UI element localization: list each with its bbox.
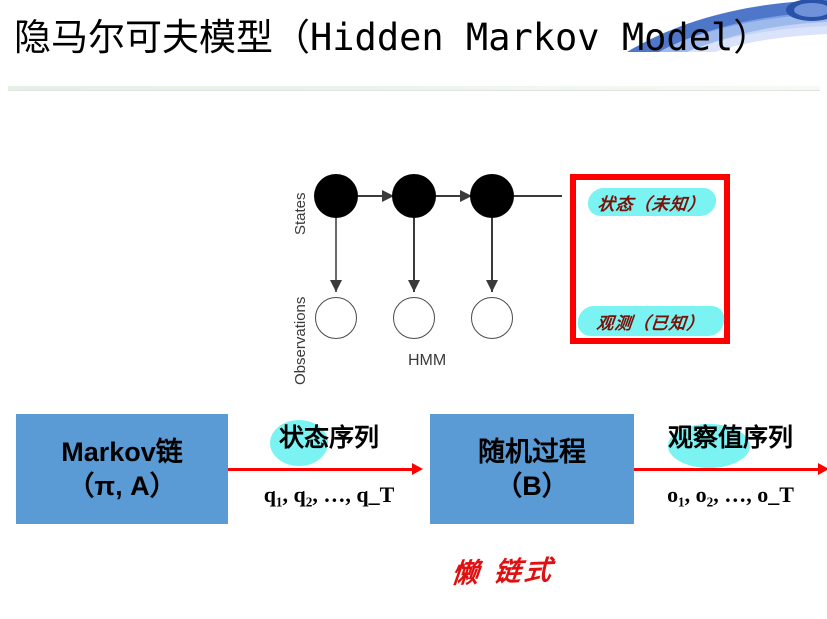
state-node: [470, 174, 514, 218]
arrow-top-label-state-sequence: 状态序列: [228, 418, 430, 454]
flow-box-process-line1: 随机过程: [478, 435, 586, 469]
arrow-top-label-observation-sequence: 观察值序列: [634, 418, 827, 454]
state-node: [314, 174, 358, 218]
handwritten-note-observations: 观测（已知）: [576, 306, 725, 336]
title-divider: [8, 86, 820, 91]
observation-node: [393, 297, 435, 339]
handwritten-note-states: 状态（未知）: [587, 188, 718, 216]
flow-box-process-line2: （B）: [495, 469, 569, 503]
page-title: 隐马尔可夫模型（Hidden Markov Model）: [14, 14, 770, 62]
arrow-head: [412, 463, 423, 475]
observation-node: [315, 297, 357, 339]
flow-box-stochastic-process: 随机过程 （B）: [430, 414, 634, 524]
flow-box-markov-line1: Markov链: [61, 435, 183, 469]
arrow-line: [634, 468, 820, 471]
arrow-head: [818, 463, 827, 475]
hmm-diagram: States Observations HMM: [272, 160, 562, 385]
observation-node: [471, 297, 513, 339]
flow-box-markov-line2: （π, A）: [67, 469, 176, 503]
hmm-caption: HMM: [408, 352, 446, 370]
flow-arrow-state-sequence: 状态序列 q₁, q₂, …, q_T: [228, 414, 430, 524]
handwritten-note-bottom: 懒 链式: [450, 548, 557, 591]
flow-box-markov-chain: Markov链 （π, A）: [16, 414, 228, 524]
annotation-box: 状态（未知） 观测（已知）: [570, 174, 730, 344]
flow-arrow-observation-sequence: 观察值序列 o₁, o₂, …, o_T: [634, 414, 827, 524]
state-node: [392, 174, 436, 218]
arrow-line: [228, 468, 414, 471]
arrow-bottom-label-state-sequence: q₁, q₂, …, q_T: [228, 482, 430, 508]
flow-diagram: Markov链 （π, A） 状态序列 q₁, q₂, …, q_T 随机过程 …: [0, 414, 827, 534]
arrow-bottom-label-observation-sequence: o₁, o₂, …, o_T: [634, 482, 827, 508]
